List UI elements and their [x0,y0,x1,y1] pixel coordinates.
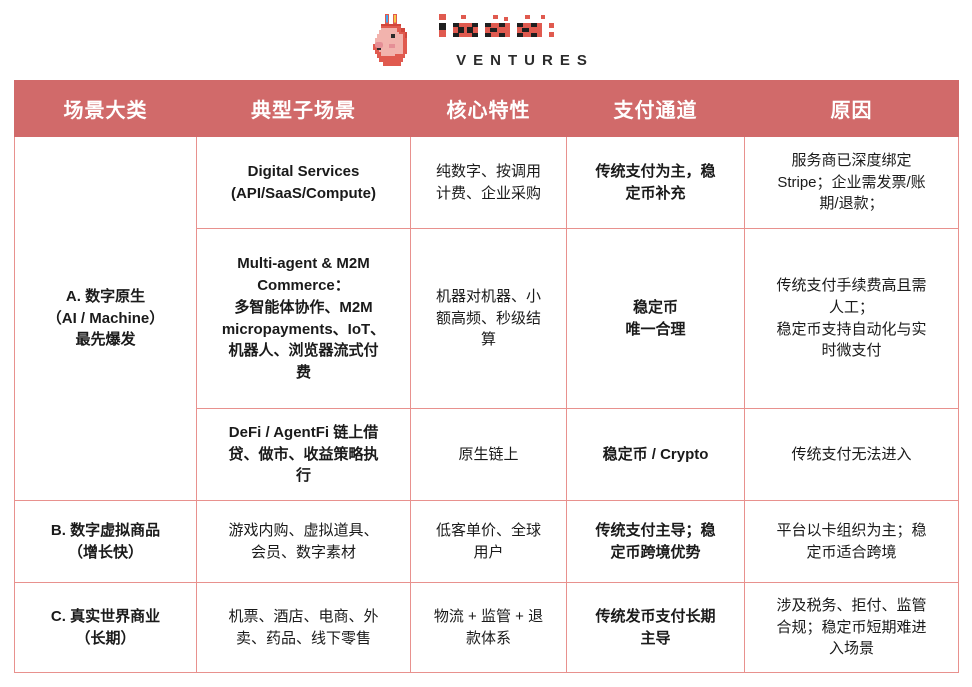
table-row: C. 真实世界商业 （长期） 机票、酒店、电商、外 卖、药品、线下零售 物流 +… [15,583,959,673]
cell-subscene: Multi-agent & M2M Commerce： 多智能体协作、M2M m… [197,229,411,409]
table-header-row: 场景大类 典型子场景 核心特性 支付通道 原因 [15,81,959,137]
cell-rail: 稳定币 唯一合理 [567,229,745,409]
cell-rail: 传统支付为主，稳 定币补充 [567,137,745,229]
page-root: VENTURES 场景大类 典型子场景 核心特性 支付通道 原因 A. 数字原生… [0,0,972,687]
cell-rail: 传统支付主导；稳 定币跨境优势 [567,501,745,583]
cell-reason: 服务商已深度绑定 Stripe；企业需发票/账 期/退款； [745,137,959,229]
scenario-comparison-table-wrapper: 场景大类 典型子场景 核心特性 支付通道 原因 A. 数字原生 （AI / Ma… [14,80,958,673]
cell-subscene: 游戏内购、虚拟道具、 会员、数字素材 [197,501,411,583]
column-header-category: 场景大类 [15,81,197,137]
table-row: A. 数字原生 （AI / Machine） 最先爆发 Digital Serv… [15,137,959,229]
cell-reason: 涉及税务、拒付、监管 合规；稳定币短期难进 入场景 [745,583,959,673]
cell-reason: 传统支付无法进入 [745,409,959,501]
llama-pixel-logo-icon [365,10,423,68]
cell-feature: 原生链上 [411,409,567,501]
cell-rail: 传统发币支付长期 主导 [567,583,745,673]
column-header-feature: 核心特性 [411,81,567,137]
column-header-subscene: 典型子场景 [197,81,411,137]
cell-rail: 稳定币 / Crypto [567,409,745,501]
brand-wordmark: VENTURES [437,11,607,68]
cell-reason: 平台以卡组织为主；稳 定币适合跨境 [745,501,959,583]
cell-reason: 传统支付手续费高且需 人工； 稳定币支持自动化与实 时微支付 [745,229,959,409]
cell-feature: 低客单价、全球 用户 [411,501,567,583]
cell-category-b: B. 数字虚拟商品 （增长快） [15,501,197,583]
brand-tagline: VENTURES [450,53,594,68]
cell-subscene: 机票、酒店、电商、外 卖、药品、线下零售 [197,583,411,673]
cell-feature: 纯数字、按调用 计费、企业采购 [411,137,567,229]
cell-subscene: DeFi / AgentFi 链上借 贷、做市、收益策略执 行 [197,409,411,501]
scenario-comparison-table: 场景大类 典型子场景 核心特性 支付通道 原因 A. 数字原生 （AI / Ma… [14,80,959,673]
cell-category-c: C. 真实世界商业 （长期） [15,583,197,673]
brand-header: VENTURES [0,0,972,78]
column-header-rail: 支付通道 [567,81,745,137]
cell-category-a: A. 数字原生 （AI / Machine） 最先爆发 [15,137,197,501]
table-body: A. 数字原生 （AI / Machine） 最先爆发 Digital Serv… [15,137,959,673]
column-header-reason: 原因 [745,81,959,137]
brand-name [437,11,607,52]
cell-feature: 机器对机器、小 额高频、秒级结 算 [411,229,567,409]
cell-subscene: Digital Services (API/SaaS/Compute) [197,137,411,229]
cell-feature: 物流 + 监管 + 退 款体系 [411,583,567,673]
table-row: B. 数字虚拟商品 （增长快） 游戏内购、虚拟道具、 会员、数字素材 低客单价、… [15,501,959,583]
